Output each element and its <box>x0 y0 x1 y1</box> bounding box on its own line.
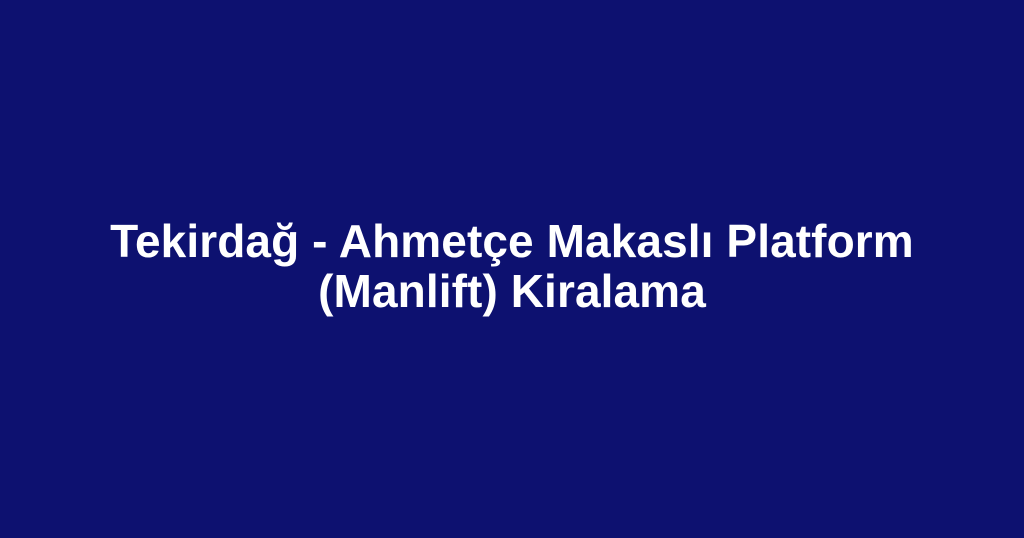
page-title: Tekirdağ - Ahmetçe Makaslı Platform (Man… <box>0 216 1024 316</box>
banner-title-block: Tekirdağ - Ahmetçe Makaslı Platform (Man… <box>0 0 1024 538</box>
page-title-line-2: (Manlift) Kiralama <box>40 266 984 316</box>
page-title-line-1: Tekirdağ - Ahmetçe Makaslı Platform <box>40 216 984 266</box>
banner-card: Tekirdağ - Ahmetçe Makaslı Platform (Man… <box>0 0 1024 538</box>
